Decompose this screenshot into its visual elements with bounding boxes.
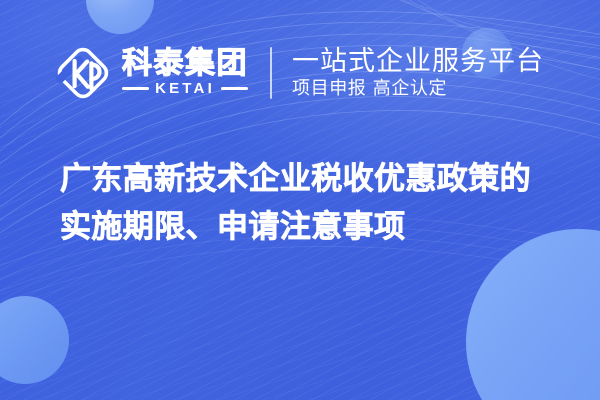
banner-header: 科泰集团 KETAI 一站式企业服务平台 项目申报 高企认定 [0, 0, 600, 145]
tagline-sub: 项目申报 高企认定 [292, 79, 544, 99]
promo-banner: 科泰集团 KETAI 一站式企业服务平台 项目申报 高企认定 广东高新技术企业税… [0, 0, 600, 400]
banner-title-line-1: 广东高新技术企业税收优惠政策的 [60, 155, 560, 203]
banner-title: 广东高新技术企业税收优惠政策的 实施期限、申请注意事项 [60, 155, 560, 251]
brand-logo: 科泰集团 KETAI [53, 43, 248, 103]
banner-title-line-2: 实施期限、申请注意事项 [60, 203, 560, 251]
header-divider [270, 47, 272, 99]
brand-name-cn: 科泰集团 [122, 49, 248, 79]
brand-tagline: 一站式企业服务平台 项目申报 高企认定 [292, 47, 544, 99]
brand-name-en-row: KETAI [122, 81, 248, 97]
brand-name-en: KETAI [155, 81, 215, 97]
wordmark-dash-left [122, 87, 149, 90]
wordmark-dash-right [221, 87, 248, 90]
tagline-main: 一站式企业服务平台 [292, 47, 544, 76]
ketai-diamond-monogram-icon [53, 43, 113, 103]
brand-wordmark: 科泰集团 KETAI [122, 49, 248, 97]
